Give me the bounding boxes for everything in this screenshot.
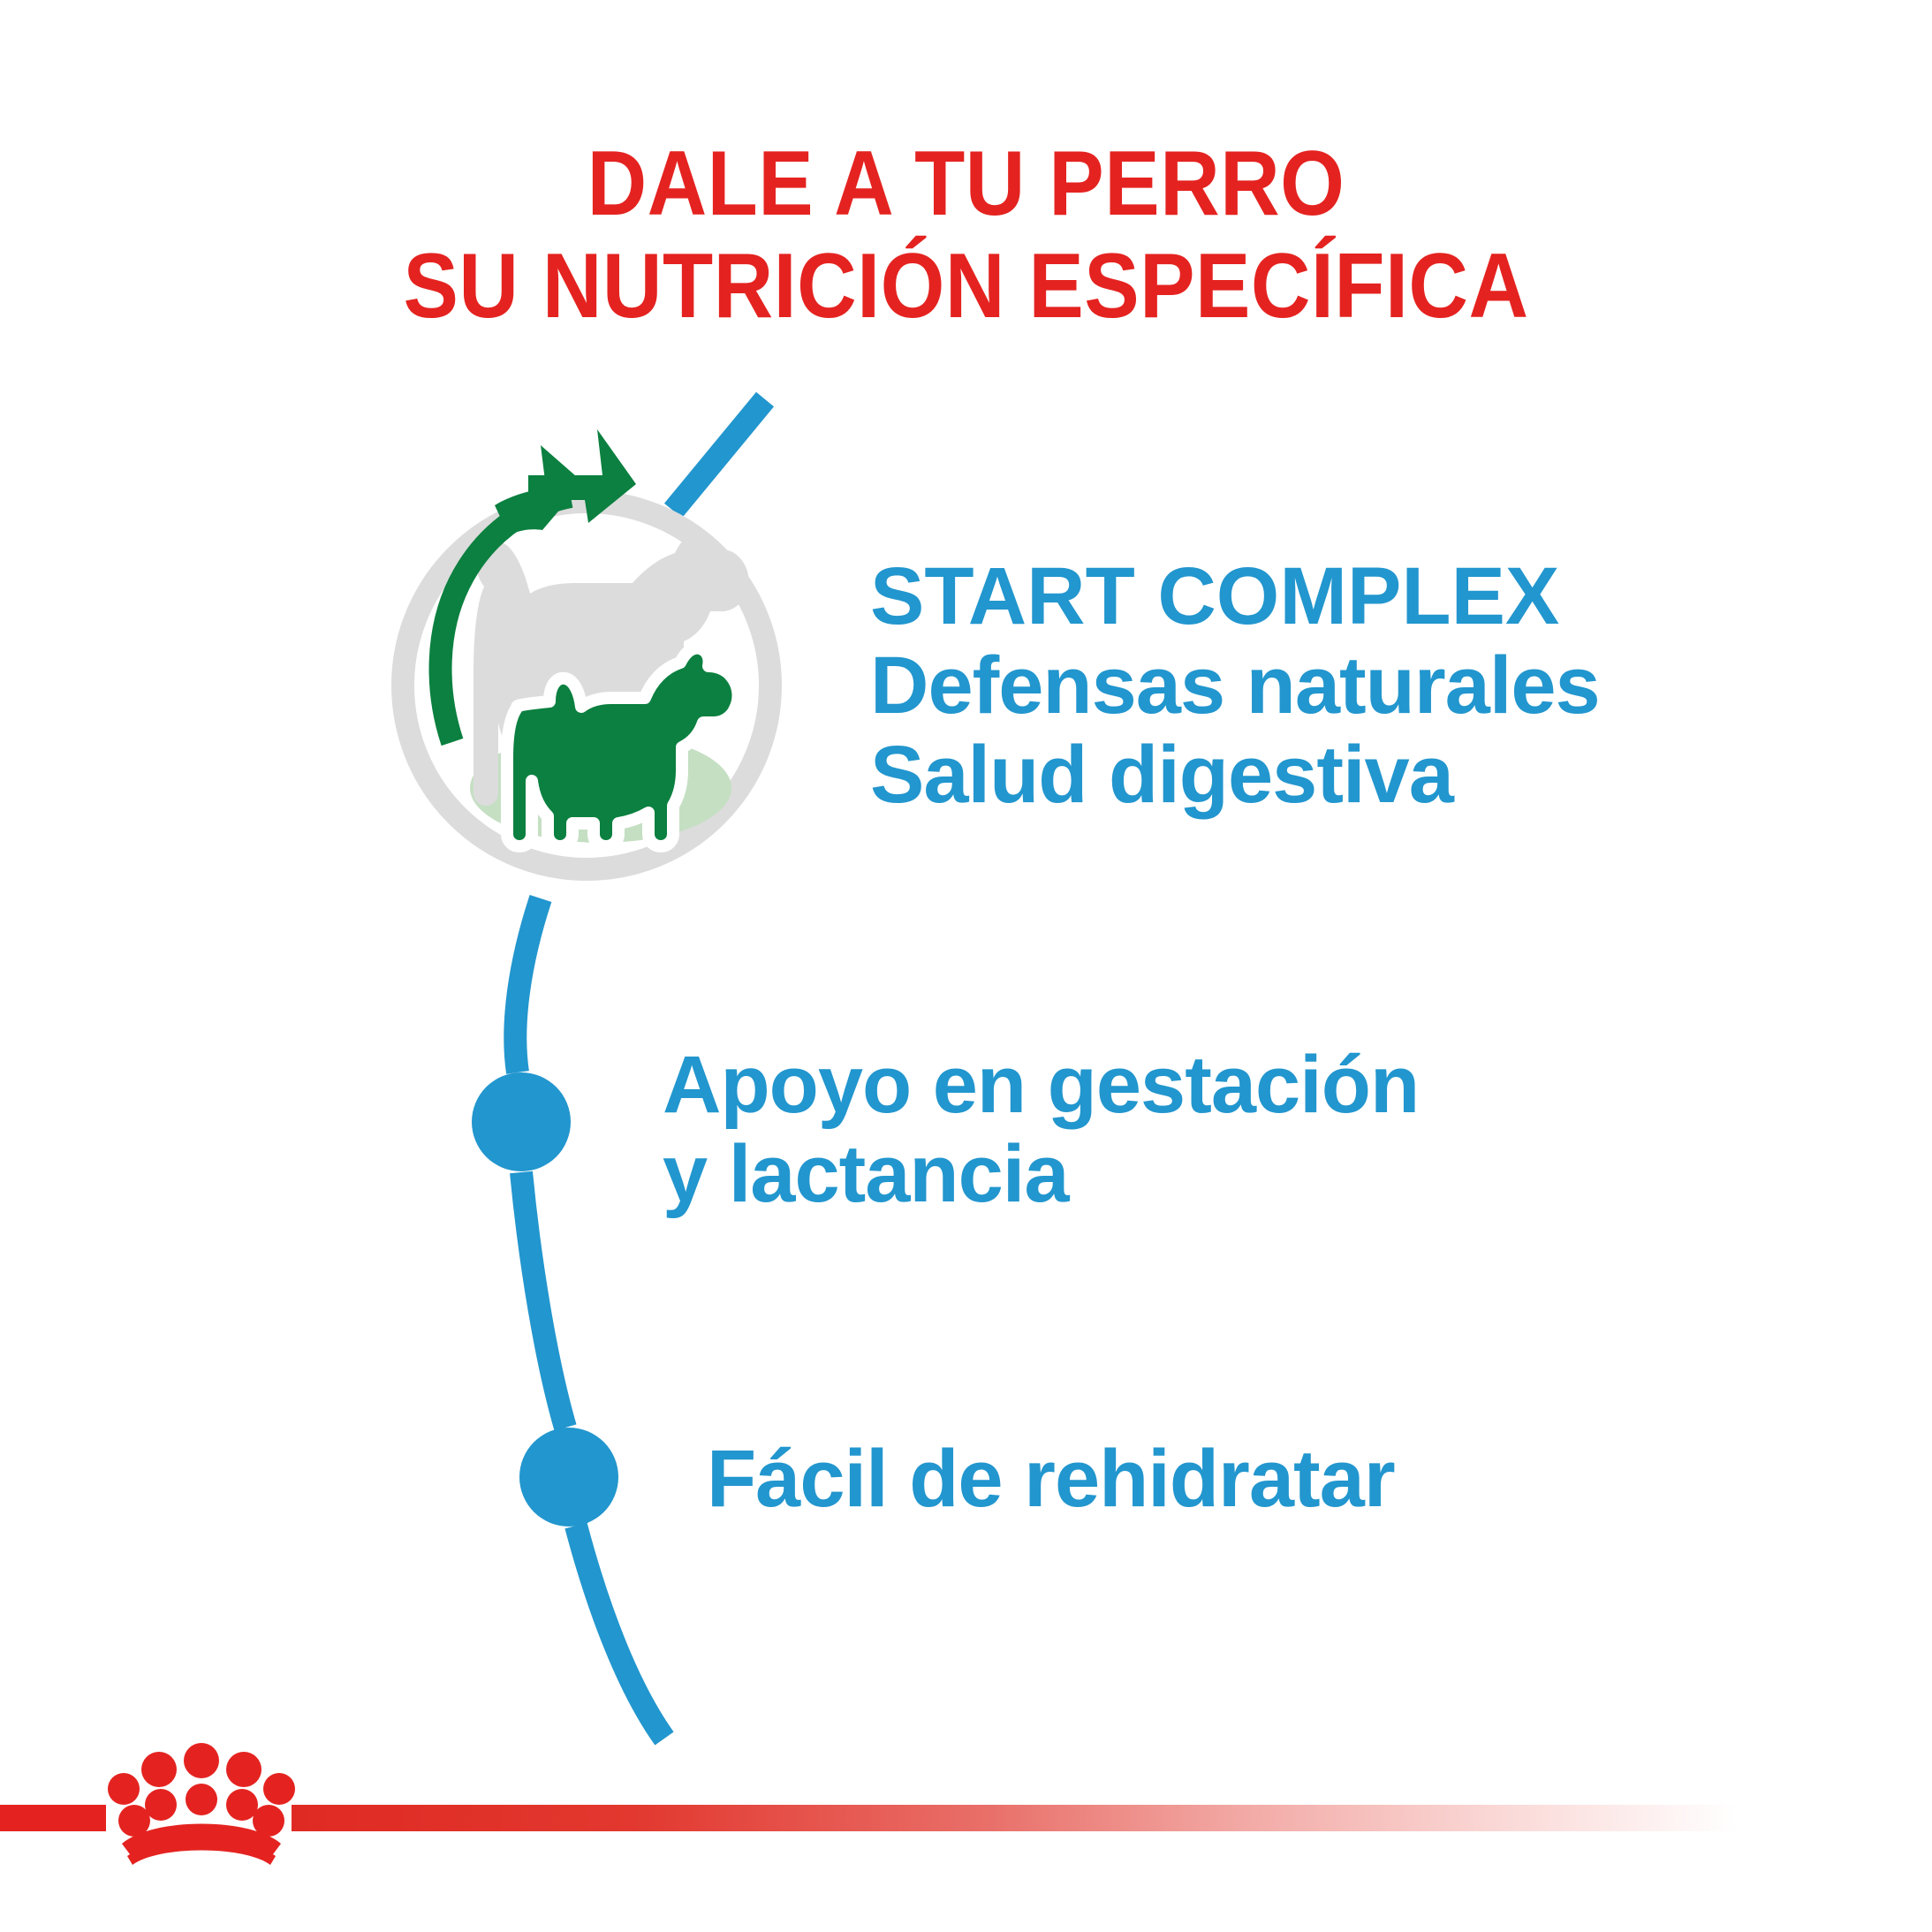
footer-rule-left <box>0 1805 106 1831</box>
benefit-text-gestation-lactation: Apoyo en gestación y lactancia <box>663 1041 1419 1219</box>
puppy-growth-circle-icon <box>403 429 770 869</box>
bullet-dot-gestation <box>472 1072 571 1171</box>
benefit-text-easy-rehydrate: Fácil de rehidratar <box>707 1435 1395 1524</box>
headline-line-1: DALE A TU PERRO <box>96 133 1835 235</box>
bullet-dot-rehydrate <box>519 1428 618 1527</box>
connector-line-segment-top <box>673 399 765 511</box>
benefit-2-line-1: Apoyo en gestación <box>663 1041 1419 1130</box>
connector-line-segment-upper <box>515 898 541 1072</box>
connector-line-segment-middle <box>521 1172 565 1428</box>
benefit-1-line-2: Defensas naturales <box>870 641 1600 731</box>
growth-arrow-icon <box>441 429 636 742</box>
poster-canvas: DALE A TU PERRO SU NUTRICIÓN ESPECÍFICA <box>0 0 1932 1932</box>
adult-dog-silhouette <box>474 532 749 806</box>
benefit-text-start-complex: START COMPLEX Defensas naturales Salud d… <box>870 552 1600 821</box>
footer-rule-right-fade <box>292 1805 1846 1831</box>
puppy-body <box>507 648 738 846</box>
icon-ring <box>403 502 770 869</box>
adult-dog-body <box>474 532 749 806</box>
royal-canin-crown-icon <box>104 1736 299 1868</box>
puppy-silhouette <box>507 648 738 846</box>
page-title: DALE A TU PERRO SU NUTRICIÓN ESPECÍFICA <box>96 133 1835 338</box>
benefit-3-line-1: Fácil de rehidratar <box>707 1435 1395 1524</box>
benefit-1-line-3: Salud digestiva <box>870 731 1600 820</box>
icon-ground-ellipse <box>470 733 731 843</box>
growth-arrow-shaft <box>441 496 571 742</box>
benefit-1-line-1: START COMPLEX <box>870 552 1600 641</box>
connector-line-segment-lower <box>576 1526 664 1739</box>
growth-arrow-head <box>495 445 583 535</box>
headline-line-2: SU NUTRICIÓN ESPECÍFICA <box>96 235 1835 337</box>
growth-arrow-head-main <box>528 429 636 523</box>
benefit-2-line-2: y lactancia <box>663 1130 1419 1219</box>
